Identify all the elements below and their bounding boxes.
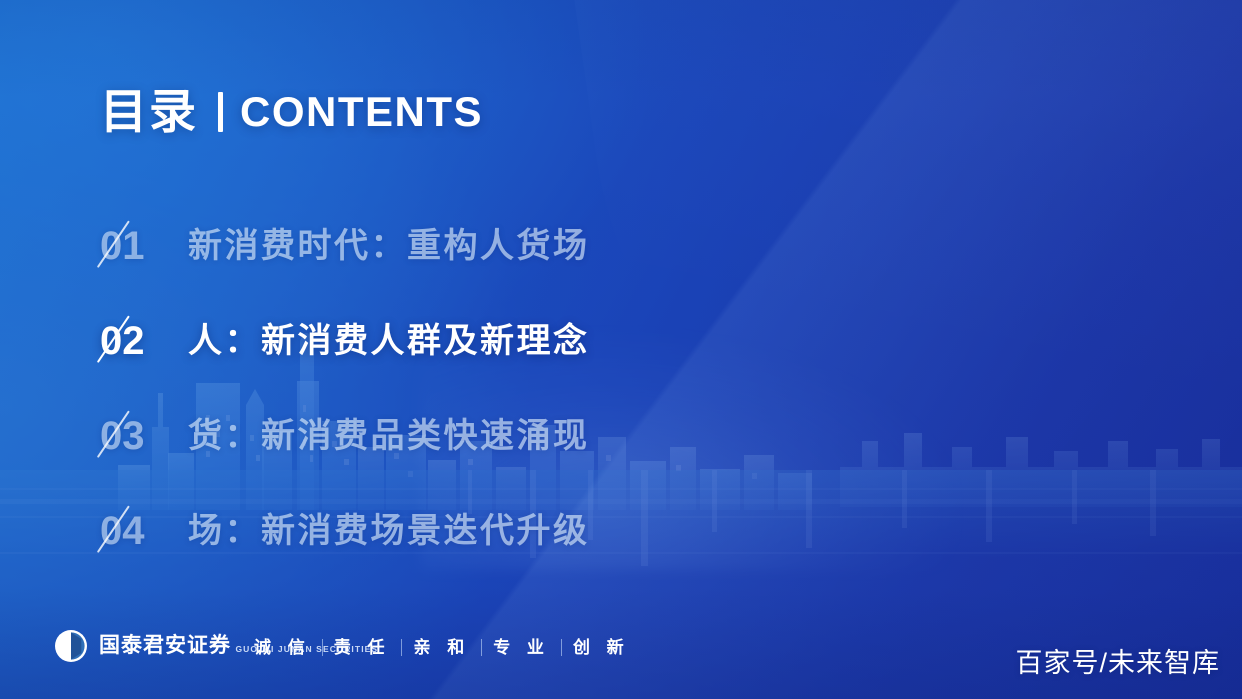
toc-item-04[interactable]: 04 场：新消费场景迭代升级 <box>100 500 590 562</box>
toc-label: 场：新消费场景迭代升级 <box>188 514 590 548</box>
page-title: 目录 CONTENTS <box>100 88 483 135</box>
page-title-en: CONTENTS <box>240 91 483 133</box>
watermark: 百家号/未来智库 <box>1015 650 1220 677</box>
guotai-junan-logo-icon <box>54 629 88 663</box>
title-divider <box>218 92 223 132</box>
toc-label: 货：新消费品类快速涌现 <box>188 419 590 453</box>
brand-name-cn: 国泰君安证券 <box>99 634 231 657</box>
slogan-word-4: 专 业 <box>482 639 561 656</box>
toc-item-02[interactable]: 02 人：新消费人群及新理念 <box>100 310 590 372</box>
table-of-contents: 01 新消费时代：重构人货场 02 人：新消费人群及新理念 03 货：新消费品类… <box>100 215 590 562</box>
slide-content: 目录 CONTENTS 01 新消费时代：重构人货场 02 人：新消费人群及新理… <box>0 0 1242 699</box>
slogan-word-3: 亲 和 <box>402 639 481 656</box>
company-slogan: 诚 信 责 任 亲 和 专 业 创 新 <box>243 639 641 656</box>
toc-label: 新消费时代：重构人货场 <box>188 229 590 263</box>
slogan-word-5: 创 新 <box>562 639 641 656</box>
toc-item-01[interactable]: 01 新消费时代：重构人货场 <box>100 215 590 277</box>
toc-label: 人：新消费人群及新理念 <box>188 324 590 358</box>
toc-item-03[interactable]: 03 货：新消费品类快速涌现 <box>100 405 590 467</box>
presentation-slide: 目录 CONTENTS 01 新消费时代：重构人货场 02 人：新消费人群及新理… <box>0 0 1242 699</box>
page-title-cn: 目录 <box>100 88 198 135</box>
slogan-word-1: 诚 信 <box>243 639 322 656</box>
slogan-word-2: 责 任 <box>323 639 402 656</box>
